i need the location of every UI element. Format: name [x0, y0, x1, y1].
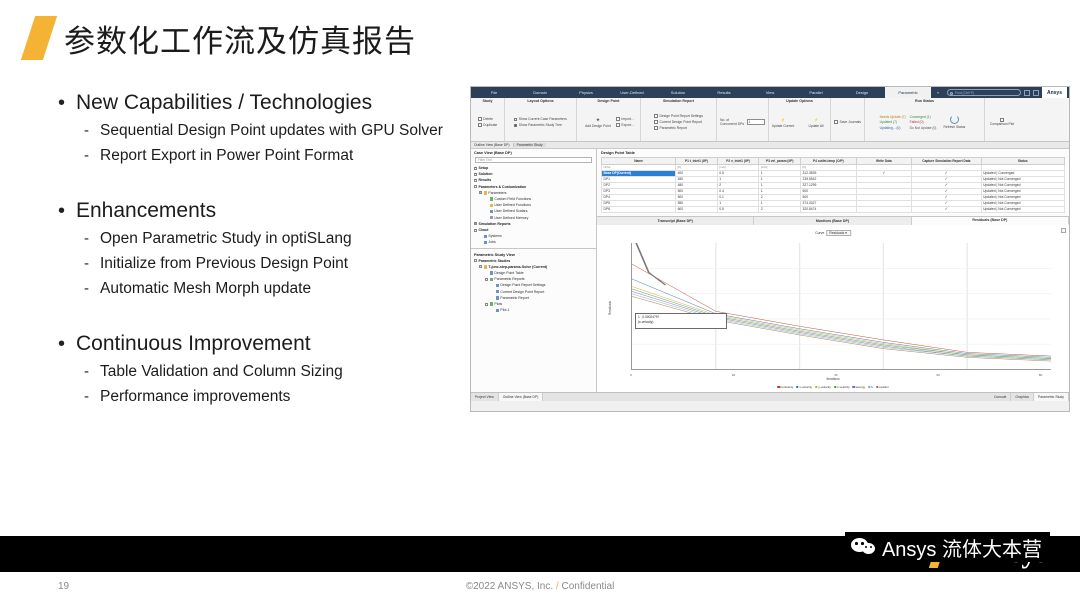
- tree-node-icon: [496, 284, 499, 287]
- delete-study-label: Delete: [483, 117, 493, 121]
- report-settings-icon: [654, 114, 658, 118]
- checkbox-checked-icon: [514, 124, 517, 127]
- curve-selector[interactable]: Curve Residuals ▾: [815, 230, 851, 236]
- parametric-report-icon: [654, 126, 658, 130]
- lightning-icon: ⚡: [781, 116, 785, 124]
- ribbon-tab-bar[interactable]: FileDomainPhysicsUser-DefinedSolutionRes…: [471, 87, 1069, 98]
- design-point-table-wrap: Design Point Table NameP1 t_inlet1 (I/P)…: [597, 149, 1069, 213]
- tree-node-icon: [484, 191, 487, 194]
- run-status-left-item: Needs Update (7): [880, 115, 906, 119]
- panel-divider: [471, 248, 596, 249]
- legend-entry: epsilon: [876, 385, 889, 389]
- group-title-simulation-report: Simulation Report: [663, 99, 694, 103]
- refresh-icon: [950, 115, 959, 124]
- breadcrumb-left[interactable]: Outline View (Base DP): [471, 143, 513, 147]
- main-split: Case View (Base DP) Filter Text +Setup+S…: [471, 149, 1069, 392]
- tree-node-icon: [484, 235, 487, 238]
- ribbon-group-run-status: Run Status Needs Update (7)Updated (7)Up…: [865, 98, 985, 141]
- current-dp-report-label: Current Design Point Report: [659, 120, 702, 124]
- checkbox-icon: [514, 118, 517, 121]
- table-column-header[interactable]: Write Data: [856, 157, 912, 164]
- ribbon-group-simulation-report: Simulation Report Design Point Report Se…: [641, 98, 717, 141]
- expander-icon[interactable]: -: [479, 265, 482, 268]
- search-placeholder: Find (Ctrl+F): [955, 91, 974, 95]
- curve-dropdown[interactable]: Residuals ▾: [826, 230, 851, 236]
- bullet-heading-text: Continuous Improvement: [76, 329, 311, 359]
- table-column-header[interactable]: P1 t_inlet1 (I/P): [676, 157, 718, 164]
- expander-icon[interactable]: +: [474, 173, 477, 176]
- table-header-row: NameP1 t_inlet1 (I/P)P2 v_inlet1 (I/P)P3…: [602, 157, 1065, 164]
- check-icon: ✓: [945, 188, 948, 193]
- design-point-report-settings-button[interactable]: Design Point Report Settings: [654, 114, 703, 118]
- expander-icon[interactable]: +: [474, 167, 477, 170]
- ribbon-tab-results[interactable]: Results: [701, 87, 747, 98]
- write-data-checkbox[interactable]: [856, 206, 912, 212]
- y-axis-label: Residuals: [608, 301, 612, 315]
- bullet-subitem-text: Initialize from Previous Design Point: [100, 251, 348, 276]
- show-current-case-parameters-label: Show Current Case Parameters: [519, 117, 567, 121]
- concurrent-dps-stepper[interactable]: No. of Concurrent DPs 1: [720, 118, 765, 126]
- bullet-group-gap: [58, 301, 468, 329]
- expander-placeholder: [485, 204, 488, 207]
- tree-node-icon: [490, 278, 493, 281]
- tree-node-icon: [496, 296, 499, 299]
- duplicate-study-label: Duplicate: [483, 123, 497, 127]
- update-current-button[interactable]: ⚡ Update Current: [768, 116, 798, 128]
- current-design-point-report-button[interactable]: Current Design Point Report: [654, 120, 703, 124]
- chart-tab-bar[interactable]: Transcript (Base DP)Monitors (Base DP)Re…: [597, 217, 1069, 225]
- tooltip-line-2: (x-velocity): [638, 320, 724, 325]
- bullet-dot-icon: •: [58, 88, 76, 118]
- chart-tab[interactable]: Monitors (Base DP): [754, 217, 911, 225]
- bottom-tab[interactable]: Graphics: [1011, 393, 1034, 401]
- tree-node-label: Parametric Report: [500, 295, 528, 301]
- lightning-icon: ⚡: [814, 116, 818, 124]
- dash-icon: -: [84, 276, 100, 301]
- ribbon-group-update-options: Update Options ⚡ Update Current ⚡ Update…: [769, 98, 831, 141]
- bullet-subitem: -Open Parametric Study in optiSLang: [84, 226, 468, 251]
- curve-value: Residuals: [829, 231, 844, 235]
- ribbon-group-concurrent-dps: No. of Concurrent DPs 1: [717, 98, 769, 141]
- run-status-right-item: Failed (0): [910, 120, 937, 124]
- bullet-dot-icon: •: [58, 196, 76, 226]
- breadcrumb-right[interactable]: Parametric Study: [513, 143, 546, 147]
- bullet-subitem-text: Performance improvements: [100, 384, 290, 409]
- chart-tab[interactable]: Transcript (Base DP): [597, 217, 754, 225]
- legend-entry: x-velocity: [796, 385, 812, 389]
- dash-icon: -: [84, 251, 100, 276]
- ribbon-group-layout-options: Layout Options Show Current Case Paramet…: [505, 98, 577, 141]
- legend-swatch: [834, 386, 837, 389]
- import-design-points-button[interactable]: Import...: [616, 117, 634, 121]
- page-title: 参数化工作流及仿真报告: [64, 16, 416, 61]
- bullet-subitem: -Initialize from Previous Design Point: [84, 251, 468, 276]
- update-all-button[interactable]: ⚡ Update All: [801, 116, 831, 128]
- bullet-heading: •New Capabilities / Technologies: [58, 88, 468, 118]
- bullet-subitem-text: Sequential Design Point updates with GPU…: [100, 118, 443, 143]
- export-design-points-button[interactable]: Export...: [616, 123, 634, 127]
- table-cell-p2[interactable]: 0.5: [717, 206, 759, 212]
- ribbon-body: Study Delete Duplicate Layout Options Sh…: [471, 98, 1069, 142]
- table-column-header[interactable]: Status: [981, 157, 1064, 164]
- parametric-study-view-title: Parametric Study View: [471, 251, 596, 258]
- bullet-subitem: -Performance improvements: [84, 384, 468, 409]
- plot-area: [631, 243, 1051, 371]
- legend-label: epsilon: [879, 385, 889, 389]
- x-axis-tick: 60: [937, 373, 940, 377]
- accent-slash-icon: [21, 16, 57, 60]
- tree-node-icon: [490, 302, 493, 305]
- bullet-subitem: -Table Validation and Column Sizing: [84, 359, 468, 384]
- case-view-title: Case View (Base DP): [471, 149, 596, 156]
- dash-icon: -: [84, 143, 100, 168]
- tree-node-icon: [484, 241, 487, 244]
- parametric-report-label: Parametric Report: [659, 126, 687, 130]
- table-column-header[interactable]: P2 v_inlet1 (I/P): [717, 157, 759, 164]
- import-label: Import...: [621, 117, 633, 121]
- tree-node-label: Jobs: [488, 239, 495, 245]
- design-point-table-title: Design Point Table: [601, 151, 1065, 155]
- concurrent-dps-label: No. of Concurrent DPs: [720, 118, 746, 126]
- page-number: 19: [58, 581, 69, 592]
- run-status-right-item: Do Not Update (0): [910, 126, 937, 130]
- expander-placeholder: [491, 296, 494, 299]
- legend-label: energy: [856, 385, 865, 389]
- table-column-header[interactable]: P3 vel_param (I/P): [759, 157, 801, 164]
- bullet-heading: •Enhancements: [58, 196, 468, 226]
- ribbon-tab-view[interactable]: View: [747, 87, 793, 98]
- table-cell-p1[interactable]: 600: [676, 206, 718, 212]
- design-point-table[interactable]: NameP1 t_inlet1 (I/P)P2 v_inlet1 (I/P)P3…: [601, 157, 1065, 213]
- bullet-dot-icon: •: [58, 329, 76, 359]
- x-axis-tick: 0: [630, 373, 632, 377]
- x-axis-label: Iterations: [826, 377, 839, 381]
- left-panel: Case View (Base DP) Filter Text +Setup+S…: [471, 149, 597, 392]
- expander-icon[interactable]: -: [474, 259, 477, 262]
- maximize-chart-button[interactable]: [1061, 228, 1066, 233]
- expander-icon[interactable]: +: [474, 222, 477, 225]
- expander-icon[interactable]: -: [485, 303, 488, 306]
- show-parametric-study-tree-label: Show Parametric Study Tree: [519, 123, 562, 127]
- legend-swatch: [868, 386, 871, 389]
- legend-label: continuity: [781, 385, 794, 389]
- ribbon-group-comparison: Comparison Plot: [985, 98, 1019, 141]
- check-icon: ✓: [882, 170, 885, 175]
- group-title-study: Study: [483, 99, 493, 103]
- residual-curves: [632, 243, 1051, 370]
- tree-node-icon: [490, 216, 493, 219]
- chart-block: Transcript (Base DP)Monitors (Base DP)Re…: [597, 216, 1069, 393]
- table-column-header[interactable]: Name: [602, 157, 676, 164]
- legend-entry: y-velocity: [815, 385, 831, 389]
- case-tree-filter-input[interactable]: Filter Text: [475, 157, 592, 163]
- capture-report-checkbox[interactable]: ✓: [912, 206, 981, 212]
- tree-node-icon: [496, 290, 499, 293]
- ribbon-right-tools[interactable]: Find (Ctrl+F) Ansys: [947, 87, 1069, 98]
- table-cell-p3[interactable]: 2: [759, 206, 801, 212]
- parametric-report-button[interactable]: Parametric Report: [654, 126, 703, 130]
- group-title-layout: Layout Options: [527, 99, 553, 103]
- expander-icon[interactable]: +: [479, 191, 482, 194]
- plus-icon: ✚: [597, 116, 600, 124]
- ribbon-tab-parallel[interactable]: Parallel: [793, 87, 839, 98]
- dash-icon: -: [84, 384, 100, 409]
- check-icon: ✓: [945, 170, 948, 175]
- expander-placeholder: [491, 290, 494, 293]
- dash-icon: -: [84, 226, 100, 251]
- current-report-icon: [654, 120, 658, 124]
- legend-swatch: [853, 386, 856, 389]
- check-icon: ✓: [945, 182, 948, 187]
- run-status-right-item: Converged (1): [910, 115, 937, 119]
- legend-swatch: [876, 386, 879, 389]
- window-icon[interactable]: [1033, 90, 1039, 96]
- bottom-tab[interactable]: Parametric Study: [1034, 393, 1069, 401]
- tree-node-icon: [496, 309, 499, 312]
- legend-swatch: [815, 386, 818, 389]
- expander-placeholder: [485, 216, 488, 219]
- x-axis-tick: 80: [1039, 373, 1042, 377]
- update-current-label: Update Current: [772, 124, 795, 128]
- add-design-point-button[interactable]: ✚ Add Design Point: [583, 116, 613, 128]
- ribbon-tab-parametric[interactable]: Parametric: [885, 87, 931, 98]
- ribbon-group-study: Study Delete Duplicate: [471, 98, 505, 141]
- dash-icon: -: [84, 359, 100, 384]
- legend-swatch: [796, 386, 799, 389]
- bullet-subitem: -Automatic Mesh Morph update: [84, 276, 468, 301]
- comparison-plot-label: Comparison Plot: [990, 122, 1014, 126]
- add-design-point-label: Add Design Point: [585, 124, 610, 128]
- check-icon: ✓: [945, 176, 948, 181]
- check-icon: ✓: [945, 200, 948, 205]
- save-journals-label: Save Journals: [840, 120, 862, 124]
- journal-icon: [834, 120, 838, 124]
- expander-placeholder: [479, 235, 482, 238]
- import-icon: [616, 117, 620, 121]
- copyright-pre: ©2022 ANSYS, Inc.: [466, 581, 556, 592]
- legend-entry: continuity: [777, 385, 793, 389]
- show-current-case-parameters-checkbox[interactable]: Show Current Case Parameters: [514, 117, 567, 121]
- table-cell-name[interactable]: DP6: [602, 206, 676, 212]
- check-icon: ✓: [945, 206, 948, 211]
- search-icon: [950, 92, 953, 95]
- legend-entry: k: [868, 385, 873, 389]
- ribbon-tab-user-defined[interactable]: User-Defined: [609, 87, 655, 98]
- ribbon-group-design-point: Design Point ✚ Add Design Point Import..…: [577, 98, 641, 141]
- legend-entry: z-velocity: [834, 385, 850, 389]
- parametric-study-tree[interactable]: -Parametric Studies-T-junc-step-params-S…: [471, 258, 596, 314]
- wechat-icon: [851, 538, 875, 556]
- legend-label: x-velocity: [800, 385, 813, 389]
- concurrent-dps-input[interactable]: 1: [747, 119, 765, 125]
- bullet-heading: •Continuous Improvement: [58, 329, 468, 359]
- export-label: Export...: [621, 123, 634, 127]
- run-status-left-item: Updating... (0): [880, 126, 906, 130]
- expander-icon[interactable]: -: [474, 229, 477, 232]
- bullet-subitem-text: Report Export in Power Point Format: [100, 143, 353, 168]
- legend-swatch: [777, 386, 780, 389]
- breadcrumb: Outline View (Base DP) Parametric Study: [471, 142, 1069, 149]
- bullet-subitem-text: Table Validation and Column Sizing: [100, 359, 343, 384]
- curve-label: Curve: [815, 231, 824, 235]
- table-column-header[interactable]: Capture Simulation Report Data: [912, 157, 981, 164]
- expander-icon[interactable]: -: [485, 278, 488, 281]
- embedded-app-screenshot: FileDomainPhysicsUser-DefinedSolutionRes…: [470, 86, 1070, 412]
- bullet-subitem: -Report Export in Power Point Format: [84, 143, 468, 168]
- help-icon[interactable]: [1024, 90, 1030, 96]
- dp-report-settings-label: Design Point Report Settings: [659, 114, 703, 118]
- group-title-run-status: Run Status: [915, 99, 934, 103]
- export-icon: [616, 123, 620, 127]
- expander-icon[interactable]: +: [474, 179, 477, 182]
- expander-placeholder: [491, 309, 494, 312]
- dash-icon: -: [84, 118, 100, 143]
- group-title-design-point: Design Point: [598, 99, 620, 103]
- bullet-group-gap: [58, 168, 468, 196]
- ribbon-tab-domain[interactable]: Domain: [517, 87, 563, 98]
- expander-placeholder: [485, 272, 488, 275]
- ribbon-tab-solution[interactable]: Solution: [655, 87, 701, 98]
- copyright-post: Confidential: [559, 581, 615, 592]
- case-tree[interactable]: +Setup+Solution+Results-Parameters & Cus…: [471, 165, 596, 246]
- refresh-status-button[interactable]: Refresh Status: [939, 115, 969, 129]
- tree-node-label: Cloud: [479, 227, 489, 233]
- copyright-text: ©2022 ANSYS, Inc. / Confidential: [466, 581, 615, 592]
- save-journals-button[interactable]: Save Journals: [834, 120, 861, 124]
- expander-placeholder: [479, 241, 482, 244]
- legend-entry: energy: [853, 385, 865, 389]
- bullet-heading-text: Enhancements: [76, 196, 216, 226]
- show-parametric-study-tree-checkbox[interactable]: Show Parametric Study Tree: [514, 123, 567, 127]
- ribbon-group-journals: Save Journals: [831, 98, 865, 141]
- ribbon-tab-file[interactable]: File: [471, 87, 517, 98]
- legend-label: y-velocity: [818, 385, 831, 389]
- legend-label: k: [871, 385, 873, 389]
- delete-study-button[interactable]: Delete: [478, 117, 498, 121]
- chevron-down-icon: ▾: [845, 231, 847, 235]
- update-all-label: Update All: [808, 124, 823, 128]
- tree-node-icon: [490, 210, 493, 213]
- wechat-badge: Ansys 流体大本营: [845, 532, 1050, 562]
- residuals-chart: Curve Residuals ▾ Residuals 1 , 0.000247…: [597, 225, 1069, 393]
- run-status-left-item: Updated (7): [880, 120, 906, 124]
- bullet-subitem-text: Automatic Mesh Morph update: [100, 276, 311, 301]
- duplicate-icon: [478, 123, 482, 127]
- chart-legend: continuityx-velocityy-velocityz-velocity…: [777, 385, 889, 389]
- tree-node[interactable]: Jobs: [474, 239, 593, 245]
- table-row[interactable]: DP66000.52320.8474✓Updated | Not Converg…: [602, 206, 1065, 212]
- x-axis-tick: 20: [732, 373, 735, 377]
- group-title-update-options: Update Options: [786, 99, 813, 103]
- table-cell-p4[interactable]: 320.8474: [801, 206, 857, 212]
- refresh-status-label: Refresh Status: [943, 125, 965, 129]
- bullet-list: •New Capabilities / Technologies-Sequent…: [58, 88, 468, 409]
- bullet-subitem-text: Open Parametric Study in optiSLang: [100, 226, 352, 251]
- expander-placeholder: [491, 284, 494, 287]
- bottom-tab[interactable]: Project View: [471, 393, 499, 401]
- ribbon-tab-physics[interactable]: Physics: [563, 87, 609, 98]
- search-input[interactable]: Find (Ctrl+F): [947, 89, 1021, 96]
- delete-icon: [478, 117, 482, 121]
- duplicate-study-button[interactable]: Duplicate: [478, 123, 498, 127]
- tree-node-icon: [490, 197, 493, 200]
- legend-label: z-velocity: [837, 385, 850, 389]
- data-point-tooltip: 1 , 0.0002479? (x-velocity): [635, 313, 727, 329]
- bottom-bar-spacer: [543, 393, 990, 401]
- wechat-account-name: Ansys 流体大本营: [882, 533, 1042, 562]
- bottom-tab[interactable]: Console: [990, 393, 1011, 401]
- ansys-logo: Ansys: [1042, 87, 1067, 98]
- tree-node-icon: [490, 271, 493, 274]
- tree-node[interactable]: Plot-1: [474, 307, 593, 313]
- chart-tab[interactable]: Residuals (Base DP): [912, 217, 1069, 225]
- right-panel: Design Point Table NameP1 t_inlet1 (I/P)…: [597, 149, 1069, 392]
- expander-icon[interactable]: -: [474, 185, 477, 188]
- comparison-plot-button[interactable]: Comparison Plot: [987, 118, 1017, 126]
- ribbon-tab-design[interactable]: Design: [839, 87, 885, 98]
- table-column-header[interactable]: P4 outlet-temp (O/P): [801, 157, 857, 164]
- expander-placeholder: [485, 210, 488, 213]
- run-status-counts: Needs Update (7)Updated (7)Updating... (…: [880, 115, 937, 130]
- slide-title-row: 参数化工作流及仿真报告: [28, 10, 416, 66]
- bullet-heading-text: New Capabilities / Technologies: [76, 88, 372, 118]
- bottom-tab-bar[interactable]: Project ViewOutline View (Base DP) Conso…: [471, 392, 1069, 401]
- bottom-tab[interactable]: Outline View (Base DP): [499, 393, 544, 401]
- tree-node-label: Plot-1: [500, 307, 509, 313]
- bullet-subitem: -Sequential Design Point updates with GP…: [84, 118, 468, 143]
- status-badge: Updated | Not Converged: [981, 206, 1064, 212]
- expander-placeholder: [485, 198, 488, 201]
- tree-node-icon: [490, 204, 493, 207]
- ribbon-tab-overflow[interactable]: »: [931, 87, 945, 98]
- tree-node-icon: [484, 265, 487, 268]
- check-icon: ✓: [945, 194, 948, 199]
